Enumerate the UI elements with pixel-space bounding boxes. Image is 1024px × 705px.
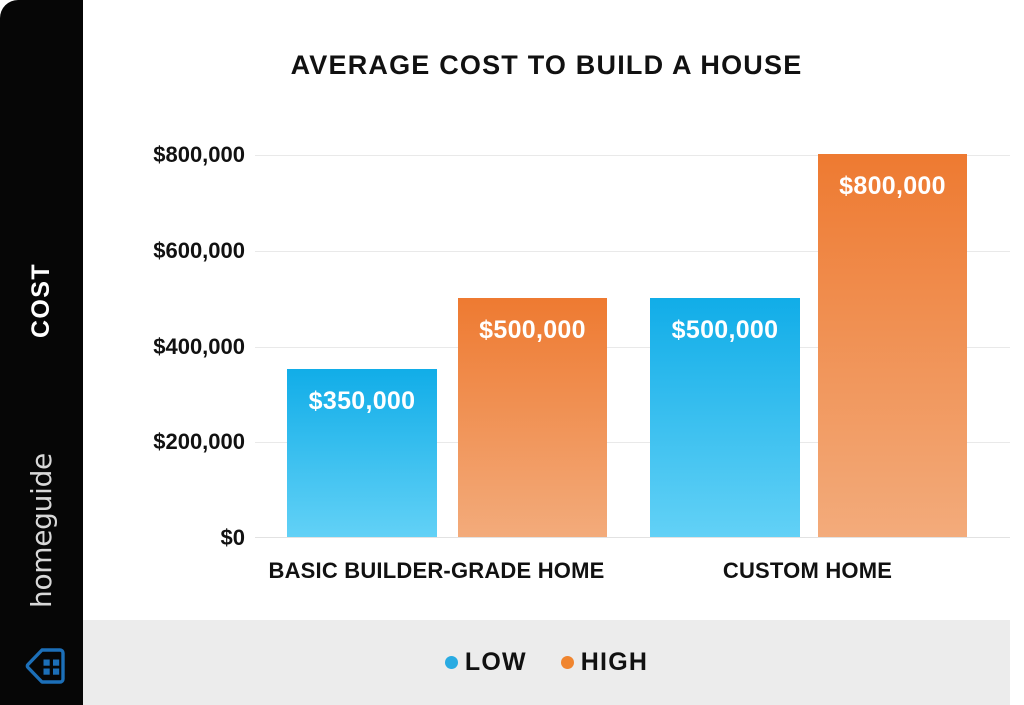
brand-wordmark: homeguide	[0, 440, 83, 620]
chart-legend: LOW HIGH	[445, 648, 648, 677]
y-tick-label: $400,000	[85, 334, 245, 360]
legend-label-low: LOW	[465, 648, 527, 677]
y-tick-label: $0	[85, 525, 245, 551]
legend-dot-high-icon	[561, 656, 574, 669]
bar-high-custom[interactable]: $800,000	[818, 154, 967, 537]
bar-value-label: $500,000	[650, 316, 800, 345]
y-tick-label: $600,000	[85, 238, 245, 264]
infographic-root: COST homeguide AVERAGE COST TO BUILD A H…	[0, 0, 1024, 705]
card-right-edge	[1008, 0, 1024, 705]
legend-dot-low-icon	[445, 656, 458, 669]
chart-footer: LOW HIGH	[83, 620, 1010, 705]
bar-low-basic[interactable]: $350,000	[287, 369, 437, 537]
axis-baseline	[255, 537, 1010, 538]
brand-wordmark-text: homeguide	[25, 453, 58, 608]
y-axis-title: COST	[0, 230, 83, 370]
house-grid-icon	[20, 641, 70, 691]
bar-value-label: $500,000	[458, 316, 607, 345]
plot-area: $350,000 $500,000 $500,000 $800,000	[255, 155, 1010, 538]
y-axis-tick-labels: $800,000 $600,000 $400,000 $200,000 $0	[85, 155, 245, 538]
page-title: AVERAGE COST TO BUILD A HOUSE	[83, 50, 1010, 81]
y-axis-title-text: COST	[27, 262, 56, 337]
bar-value-label: $350,000	[287, 387, 437, 416]
bar-high-basic[interactable]: $500,000	[458, 298, 607, 537]
left-rail: COST homeguide	[0, 0, 83, 705]
bar-low-custom[interactable]: $500,000	[650, 298, 800, 537]
x-category-label-basic: BASIC BUILDER-GRADE HOME	[255, 558, 618, 584]
bar-value-label: $800,000	[818, 172, 967, 201]
legend-label-high: HIGH	[581, 648, 648, 677]
legend-item-low[interactable]: LOW	[445, 648, 527, 677]
y-tick-label: $800,000	[85, 142, 245, 168]
legend-item-high[interactable]: HIGH	[561, 648, 648, 677]
y-tick-label: $200,000	[85, 429, 245, 455]
x-category-label-custom: CUSTOM HOME	[640, 558, 975, 584]
